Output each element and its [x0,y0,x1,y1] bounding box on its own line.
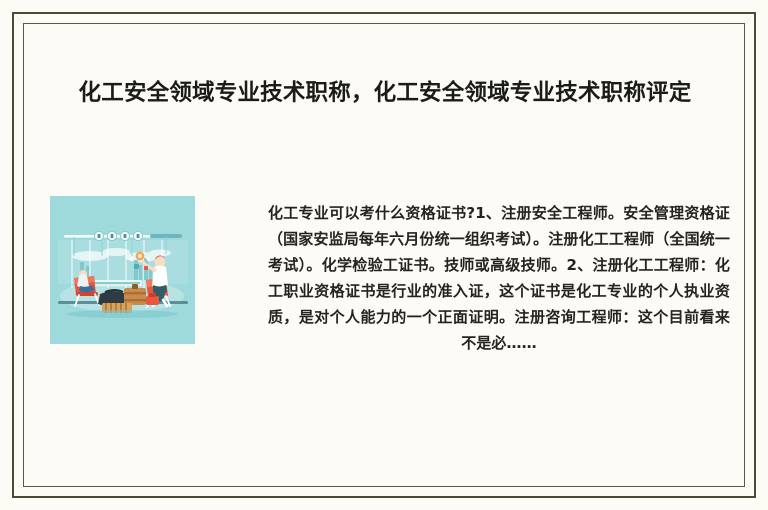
page-title: 化工安全领域专业技术职称，化工安全领域专业技术职称评定 [52,76,718,110]
article-page: 化工安全领域专业技术职称，化工安全领域专业技术职称评定 [0,0,768,510]
article-illustration [50,196,195,344]
airport-waiting-lounge-illustration [50,196,195,344]
article-body: 化工专业可以考什么资格证书?1、注册安全工程师。安全管理资格证（国家安监局每年六… [268,200,730,356]
